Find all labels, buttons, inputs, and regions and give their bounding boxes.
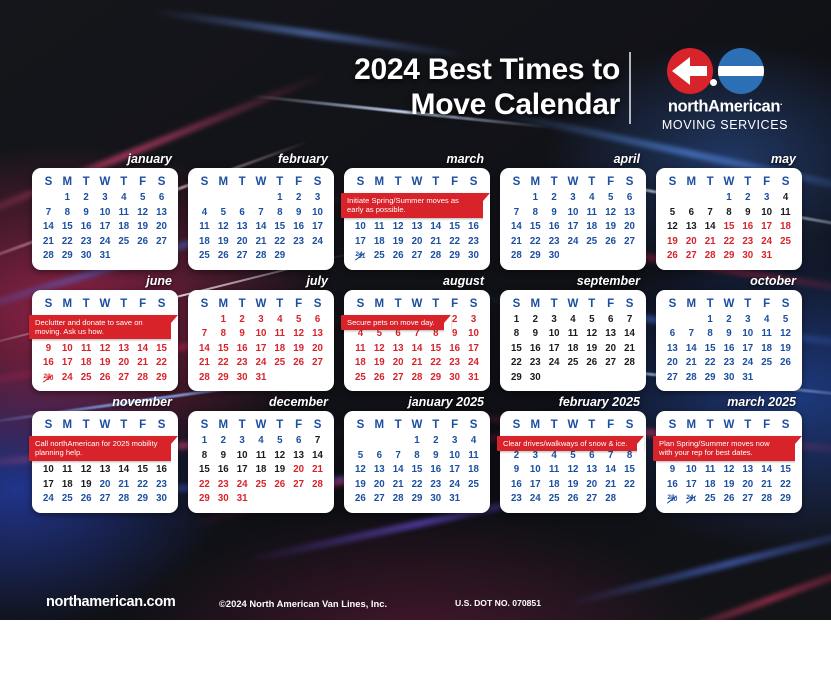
day-cell[interactable]: 9 bbox=[214, 449, 233, 464]
day-cell[interactable]: 23 bbox=[464, 235, 483, 250]
day-cell[interactable]: 8 bbox=[408, 449, 427, 464]
day-cell[interactable]: 28 bbox=[39, 249, 58, 264]
day-cell[interactable]: 8 bbox=[526, 206, 545, 221]
day-cell[interactable]: 17 bbox=[252, 342, 271, 357]
day-cell[interactable]: 25 bbox=[114, 235, 133, 250]
day-cell[interactable]: 18 bbox=[270, 342, 289, 357]
day-cell[interactable]: 3 bbox=[545, 313, 564, 328]
day-cell[interactable]: 17 bbox=[58, 356, 77, 371]
day-cell[interactable]: 4 bbox=[114, 191, 133, 206]
day-cell[interactable]: 21 bbox=[601, 478, 620, 493]
day-cell[interactable]: 12 bbox=[214, 220, 233, 235]
day-cell[interactable]: 13 bbox=[308, 327, 327, 342]
day-cell[interactable]: 3 bbox=[738, 313, 757, 328]
day-cell[interactable]: 10 bbox=[757, 206, 776, 221]
day-cell[interactable]: 21 bbox=[195, 356, 214, 371]
day-cell[interactable]: 5 bbox=[351, 449, 370, 464]
day-cell[interactable]: 20 bbox=[408, 235, 427, 250]
day-cell[interactable]: 23 bbox=[526, 356, 545, 371]
day-cell[interactable]: 5 bbox=[776, 313, 795, 328]
day-cell[interactable]: 5 bbox=[601, 191, 620, 206]
day-cell[interactable]: 29 bbox=[133, 492, 152, 507]
day-cell[interactable]: 30 bbox=[233, 371, 252, 386]
day-cell[interactable]: 29 bbox=[426, 371, 445, 386]
day-cell[interactable]: 10 bbox=[96, 206, 115, 221]
day-cell[interactable]: 27 bbox=[96, 492, 115, 507]
day-cell[interactable]: 11 bbox=[58, 463, 77, 478]
day-cell[interactable]: 23 bbox=[545, 235, 564, 250]
day-cell[interactable]: 27 bbox=[233, 249, 252, 264]
day-cell[interactable]: 27 bbox=[152, 235, 171, 250]
day-cell[interactable]: 8 bbox=[214, 327, 233, 342]
day-cell[interactable]: 29 bbox=[445, 249, 464, 264]
day-cell[interactable]: 10 bbox=[233, 449, 252, 464]
day-cell[interactable]: 1 bbox=[408, 434, 427, 449]
day-cell[interactable]: 15 bbox=[526, 220, 545, 235]
day-cell[interactable]: 13 bbox=[389, 342, 408, 357]
day-cell[interactable]: 29 bbox=[507, 371, 526, 386]
day-cell[interactable]: 20 bbox=[289, 463, 308, 478]
day-cell[interactable]: 17 bbox=[545, 342, 564, 357]
day-cell[interactable]: 13 bbox=[663, 342, 682, 357]
day-cell[interactable]: 20 bbox=[152, 220, 171, 235]
day-cell[interactable]: 25 bbox=[545, 492, 564, 507]
day-cell[interactable]: 14 bbox=[507, 220, 526, 235]
day-cell[interactable]: 6 bbox=[152, 191, 171, 206]
day-cell[interactable]: 12 bbox=[370, 342, 389, 357]
day-cell[interactable]: 30 bbox=[445, 371, 464, 386]
day-cell[interactable]: 7 bbox=[620, 313, 639, 328]
day-cell[interactable]: 13 bbox=[114, 342, 133, 357]
day-cell[interactable]: 21 bbox=[114, 478, 133, 493]
day-cell[interactable]: 27 bbox=[308, 356, 327, 371]
day-cell[interactable]: 3 bbox=[464, 313, 483, 328]
day-cell[interactable]: 19 bbox=[564, 478, 583, 493]
day-cell[interactable]: 19 bbox=[351, 478, 370, 493]
day-cell[interactable]: 24 bbox=[564, 235, 583, 250]
day-cell[interactable]: 19 bbox=[582, 342, 601, 357]
day-cell[interactable]: 14 bbox=[308, 449, 327, 464]
day-cell[interactable]: 11 bbox=[776, 206, 795, 221]
day-cell[interactable]: 28 bbox=[620, 356, 639, 371]
day-cell[interactable]: 14 bbox=[757, 463, 776, 478]
day-cell[interactable]: 29 bbox=[195, 492, 214, 507]
day-cell[interactable]: 25 bbox=[370, 249, 389, 264]
day-cell[interactable]: 16 bbox=[214, 463, 233, 478]
day-cell[interactable]: 28 bbox=[426, 249, 445, 264]
day-cell[interactable]: 30 bbox=[214, 492, 233, 507]
day-cell[interactable]: 19 bbox=[77, 478, 96, 493]
day-cell[interactable]: 16 bbox=[545, 220, 564, 235]
day-cell[interactable]: 10 bbox=[39, 463, 58, 478]
day-cell[interactable]: 30 bbox=[526, 371, 545, 386]
day-cell[interactable]: 24 bbox=[233, 478, 252, 493]
day-cell[interactable]: 18 bbox=[545, 478, 564, 493]
day-cell[interactable]: 25 bbox=[582, 235, 601, 250]
day-cell[interactable]: 4 bbox=[252, 434, 271, 449]
day-cell[interactable]: 21 bbox=[507, 235, 526, 250]
day-cell[interactable]: 10 bbox=[252, 327, 271, 342]
day-cell[interactable]: 26 bbox=[776, 356, 795, 371]
day-cell[interactable]: 10 bbox=[445, 449, 464, 464]
day-cell[interactable]: 20 bbox=[663, 356, 682, 371]
day-cell[interactable]: 8 bbox=[270, 206, 289, 221]
day-cell[interactable]: 20 bbox=[308, 342, 327, 357]
day-cell[interactable]: 18 bbox=[701, 478, 720, 493]
day-cell[interactable]: 21 bbox=[389, 478, 408, 493]
day-cell[interactable]: 11 bbox=[195, 220, 214, 235]
day-cell[interactable]: 12 bbox=[564, 463, 583, 478]
day-cell[interactable]: 18 bbox=[564, 342, 583, 357]
day-cell[interactable]: 5 bbox=[289, 313, 308, 328]
day-cell[interactable]: 7 bbox=[308, 434, 327, 449]
day-cell[interactable]: 27 bbox=[738, 492, 757, 507]
day-cell[interactable]: 9 bbox=[426, 449, 445, 464]
day-cell[interactable]: 23 bbox=[152, 478, 171, 493]
day-cell[interactable]: 26 bbox=[270, 478, 289, 493]
day-cell[interactable]: 12 bbox=[582, 327, 601, 342]
day-cell[interactable]: 25 bbox=[464, 478, 483, 493]
day-cell[interactable]: 11 bbox=[270, 327, 289, 342]
day-cell[interactable]: 2 bbox=[545, 191, 564, 206]
day-cell[interactable]: 26 bbox=[720, 492, 739, 507]
day-cell[interactable]: 10 bbox=[351, 220, 370, 235]
day-cell[interactable]: 13 bbox=[601, 327, 620, 342]
day-cell[interactable]: 27 bbox=[682, 249, 701, 264]
day-cell[interactable]: 18 bbox=[77, 356, 96, 371]
day-cell[interactable]: 2 bbox=[426, 434, 445, 449]
day-cell[interactable]: 6 bbox=[308, 313, 327, 328]
day-cell[interactable]: 19 bbox=[214, 235, 233, 250]
day-cell[interactable]: 16 bbox=[289, 220, 308, 235]
day-cell[interactable]: 15 bbox=[195, 463, 214, 478]
day-cell[interactable]: 11 bbox=[351, 342, 370, 357]
day-cell[interactable]: 3 bbox=[233, 434, 252, 449]
day-cell[interactable]: 17 bbox=[526, 478, 545, 493]
day-cell[interactable]: 11 bbox=[545, 463, 564, 478]
day-cell[interactable]: 2 bbox=[526, 313, 545, 328]
day-cell[interactable]: 21 bbox=[620, 342, 639, 357]
day-cell[interactable]: 9 bbox=[738, 206, 757, 221]
day-cell[interactable]: 11 bbox=[77, 342, 96, 357]
day-cell[interactable]: 25 bbox=[252, 478, 271, 493]
day-cell[interactable]: 26 bbox=[133, 235, 152, 250]
day-cell[interactable]: 9 bbox=[507, 463, 526, 478]
day-cell[interactable]: 29 bbox=[270, 249, 289, 264]
day-cell[interactable]: 10 bbox=[308, 206, 327, 221]
day-cell[interactable]: 19 bbox=[270, 463, 289, 478]
day-cell[interactable]: 23 bbox=[445, 356, 464, 371]
day-cell[interactable]: 25 bbox=[270, 356, 289, 371]
day-cell[interactable]: 31 bbox=[738, 371, 757, 386]
day-cell[interactable]: 18 bbox=[351, 356, 370, 371]
day-cell[interactable]: 3 bbox=[564, 191, 583, 206]
day-cell[interactable]: 15 bbox=[408, 463, 427, 478]
day-cell[interactable]: 16 bbox=[233, 342, 252, 357]
day-cell[interactable]: 30 bbox=[720, 371, 739, 386]
day-cell[interactable]: 9 bbox=[77, 206, 96, 221]
day-cell[interactable]: 27 bbox=[370, 492, 389, 507]
day-cell[interactable]: 27 bbox=[582, 492, 601, 507]
day-cell[interactable]: 7 bbox=[701, 206, 720, 221]
day-cell[interactable]: 30 bbox=[77, 249, 96, 264]
day-cell[interactable]: 13 bbox=[96, 463, 115, 478]
day-cell[interactable]: 23 bbox=[289, 235, 308, 250]
day-cell[interactable]: 17 bbox=[564, 220, 583, 235]
website-url[interactable]: northamerican.com bbox=[46, 594, 175, 610]
day-cell[interactable]: 28 bbox=[114, 492, 133, 507]
day-cell[interactable]: 11 bbox=[464, 449, 483, 464]
day-cell[interactable]: 26 bbox=[389, 249, 408, 264]
day-cell[interactable]: 28 bbox=[757, 492, 776, 507]
day-cell[interactable]: 29 bbox=[408, 492, 427, 507]
day-cell[interactable]: 2330 bbox=[39, 371, 58, 386]
day-cell[interactable]: 29 bbox=[152, 371, 171, 386]
day-cell[interactable]: 16 bbox=[526, 342, 545, 357]
day-cell[interactable]: 9 bbox=[663, 463, 682, 478]
day-cell[interactable]: 22 bbox=[58, 235, 77, 250]
day-cell[interactable]: 18 bbox=[757, 342, 776, 357]
day-cell[interactable]: 7 bbox=[507, 206, 526, 221]
day-cell[interactable]: 27 bbox=[408, 249, 427, 264]
day-cell[interactable]: 15 bbox=[214, 342, 233, 357]
day-cell[interactable]: 10 bbox=[464, 327, 483, 342]
day-cell[interactable]: 14 bbox=[408, 342, 427, 357]
day-cell[interactable]: 26 bbox=[351, 492, 370, 507]
day-cell[interactable]: 22 bbox=[408, 478, 427, 493]
day-cell[interactable]: 6 bbox=[620, 191, 639, 206]
day-cell[interactable]: 2330 bbox=[663, 492, 682, 507]
day-cell[interactable]: 12 bbox=[289, 327, 308, 342]
day-cell[interactable]: 4 bbox=[195, 206, 214, 221]
day-cell[interactable]: 22 bbox=[270, 235, 289, 250]
day-cell[interactable]: 22 bbox=[701, 356, 720, 371]
day-cell[interactable]: 21 bbox=[252, 235, 271, 250]
day-cell[interactable]: 14 bbox=[389, 463, 408, 478]
day-cell[interactable]: 8 bbox=[58, 206, 77, 221]
day-cell[interactable]: 24 bbox=[464, 356, 483, 371]
day-cell[interactable]: 4 bbox=[464, 434, 483, 449]
day-cell[interactable]: 8 bbox=[195, 449, 214, 464]
day-cell[interactable]: 27 bbox=[663, 371, 682, 386]
day-cell[interactable]: 16 bbox=[426, 463, 445, 478]
day-cell[interactable]: 26 bbox=[370, 371, 389, 386]
day-cell[interactable]: 16 bbox=[152, 463, 171, 478]
day-cell[interactable]: 31 bbox=[757, 249, 776, 264]
day-cell[interactable]: 22 bbox=[445, 235, 464, 250]
day-cell[interactable]: 30 bbox=[426, 492, 445, 507]
day-cell[interactable]: 4 bbox=[776, 191, 795, 206]
day-cell[interactable]: 20 bbox=[582, 478, 601, 493]
day-cell[interactable]: 5 bbox=[663, 206, 682, 221]
day-cell[interactable]: 19 bbox=[289, 342, 308, 357]
day-cell[interactable]: 28 bbox=[408, 371, 427, 386]
day-cell[interactable]: 29 bbox=[720, 249, 739, 264]
day-cell[interactable]: 6 bbox=[233, 206, 252, 221]
day-cell[interactable]: 1 bbox=[526, 191, 545, 206]
day-cell[interactable]: 30 bbox=[152, 492, 171, 507]
day-cell[interactable]: 10 bbox=[58, 342, 77, 357]
day-cell[interactable]: 11 bbox=[757, 327, 776, 342]
day-cell[interactable]: 1 bbox=[195, 434, 214, 449]
day-cell[interactable]: 3 bbox=[96, 191, 115, 206]
day-cell[interactable]: 14 bbox=[114, 463, 133, 478]
day-cell[interactable]: 18 bbox=[776, 220, 795, 235]
day-cell[interactable]: 19 bbox=[96, 356, 115, 371]
day-cell[interactable]: 2 bbox=[720, 313, 739, 328]
day-cell[interactable]: 15 bbox=[152, 342, 171, 357]
day-cell[interactable]: 28 bbox=[507, 249, 526, 264]
day-cell[interactable]: 14 bbox=[195, 342, 214, 357]
day-cell[interactable]: 25 bbox=[757, 356, 776, 371]
day-cell[interactable]: 28 bbox=[308, 478, 327, 493]
day-cell[interactable]: 19 bbox=[389, 235, 408, 250]
day-cell[interactable]: 10 bbox=[526, 463, 545, 478]
day-cell[interactable]: 25 bbox=[58, 492, 77, 507]
day-cell[interactable]: 13 bbox=[582, 463, 601, 478]
day-cell[interactable]: 8 bbox=[701, 327, 720, 342]
day-cell[interactable]: 26 bbox=[601, 235, 620, 250]
day-cell[interactable]: 2 bbox=[289, 191, 308, 206]
day-cell[interactable]: 1 bbox=[720, 191, 739, 206]
day-cell[interactable]: 9 bbox=[720, 327, 739, 342]
day-cell[interactable]: 18 bbox=[252, 463, 271, 478]
day-cell[interactable]: 24 bbox=[96, 235, 115, 250]
day-cell[interactable]: 24 bbox=[39, 492, 58, 507]
day-cell[interactable]: 20 bbox=[233, 235, 252, 250]
day-cell[interactable]: 4 bbox=[757, 313, 776, 328]
day-cell[interactable]: 20 bbox=[601, 342, 620, 357]
day-cell[interactable]: 3 bbox=[252, 313, 271, 328]
day-cell[interactable]: 16 bbox=[39, 356, 58, 371]
day-cell[interactable]: 9 bbox=[233, 327, 252, 342]
day-cell[interactable]: 25 bbox=[351, 371, 370, 386]
day-cell[interactable]: 13 bbox=[152, 206, 171, 221]
day-cell[interactable]: 15 bbox=[445, 220, 464, 235]
day-cell[interactable]: 20 bbox=[620, 220, 639, 235]
day-cell[interactable]: 30 bbox=[738, 249, 757, 264]
day-cell[interactable]: 22 bbox=[720, 235, 739, 250]
day-cell[interactable]: 18 bbox=[195, 235, 214, 250]
day-cell[interactable]: 15 bbox=[270, 220, 289, 235]
day-cell[interactable]: 5 bbox=[214, 206, 233, 221]
day-cell[interactable]: 10 bbox=[682, 463, 701, 478]
day-cell[interactable]: 12 bbox=[133, 206, 152, 221]
day-cell[interactable]: 16 bbox=[663, 478, 682, 493]
day-cell[interactable]: 9 bbox=[545, 206, 564, 221]
day-cell[interactable]: 22 bbox=[214, 356, 233, 371]
day-cell[interactable]: 20 bbox=[682, 235, 701, 250]
day-cell[interactable]: 9 bbox=[289, 206, 308, 221]
day-cell[interactable]: 12 bbox=[776, 327, 795, 342]
day-cell[interactable]: 7 bbox=[682, 327, 701, 342]
day-cell[interactable]: 14 bbox=[39, 220, 58, 235]
day-cell[interactable]: 25 bbox=[77, 371, 96, 386]
day-cell[interactable]: 15 bbox=[720, 220, 739, 235]
day-cell[interactable]: 14 bbox=[133, 342, 152, 357]
day-cell[interactable]: 14 bbox=[426, 220, 445, 235]
day-cell[interactable]: 23 bbox=[738, 235, 757, 250]
day-cell[interactable]: 29 bbox=[214, 371, 233, 386]
day-cell[interactable]: 31 bbox=[96, 249, 115, 264]
day-cell[interactable]: 22 bbox=[195, 478, 214, 493]
day-cell[interactable]: 17 bbox=[39, 478, 58, 493]
day-cell[interactable]: 22 bbox=[507, 356, 526, 371]
day-cell[interactable]: 21 bbox=[426, 235, 445, 250]
day-cell[interactable]: 25 bbox=[564, 356, 583, 371]
day-cell[interactable]: 28 bbox=[682, 371, 701, 386]
day-cell[interactable]: 10 bbox=[564, 206, 583, 221]
day-cell[interactable]: 25 bbox=[195, 249, 214, 264]
day-cell[interactable]: 24 bbox=[58, 371, 77, 386]
day-cell[interactable]: 9 bbox=[39, 342, 58, 357]
day-cell[interactable]: 4 bbox=[564, 313, 583, 328]
day-cell[interactable]: 12 bbox=[351, 463, 370, 478]
day-cell[interactable]: 11 bbox=[582, 206, 601, 221]
day-cell[interactable]: 17 bbox=[445, 463, 464, 478]
day-cell[interactable]: 26 bbox=[564, 492, 583, 507]
day-cell[interactable]: 18 bbox=[370, 235, 389, 250]
day-cell[interactable]: 30 bbox=[545, 249, 564, 264]
day-cell[interactable]: 17 bbox=[464, 342, 483, 357]
day-cell[interactable]: 18 bbox=[464, 463, 483, 478]
day-cell[interactable]: 17 bbox=[757, 220, 776, 235]
day-cell[interactable]: 26 bbox=[96, 371, 115, 386]
day-cell[interactable]: 21 bbox=[757, 478, 776, 493]
day-cell[interactable]: 13 bbox=[682, 220, 701, 235]
day-cell[interactable]: 27 bbox=[620, 235, 639, 250]
day-cell[interactable]: 19 bbox=[133, 220, 152, 235]
day-cell[interactable]: 2 bbox=[233, 313, 252, 328]
day-cell[interactable]: 20 bbox=[370, 478, 389, 493]
day-cell[interactable]: 1 bbox=[214, 313, 233, 328]
day-cell[interactable]: 29 bbox=[701, 371, 720, 386]
day-cell[interactable]: 3 bbox=[757, 191, 776, 206]
day-cell[interactable]: 24 bbox=[545, 356, 564, 371]
day-cell[interactable]: 22 bbox=[620, 478, 639, 493]
day-cell[interactable]: 17 bbox=[738, 342, 757, 357]
day-cell[interactable]: 22 bbox=[133, 478, 152, 493]
day-cell[interactable]: 15 bbox=[426, 342, 445, 357]
day-cell[interactable]: 16 bbox=[77, 220, 96, 235]
day-cell[interactable]: 26 bbox=[214, 249, 233, 264]
day-cell[interactable]: 15 bbox=[507, 342, 526, 357]
day-cell[interactable]: 27 bbox=[114, 371, 133, 386]
day-cell[interactable]: 28 bbox=[133, 371, 152, 386]
day-cell[interactable]: 22 bbox=[426, 356, 445, 371]
day-cell[interactable]: 10 bbox=[545, 327, 564, 342]
day-cell[interactable]: 13 bbox=[738, 463, 757, 478]
day-cell[interactable]: 11 bbox=[701, 463, 720, 478]
day-cell[interactable]: 23 bbox=[214, 478, 233, 493]
day-cell[interactable]: 21 bbox=[408, 356, 427, 371]
day-cell[interactable]: 31 bbox=[233, 492, 252, 507]
day-cell[interactable]: 24 bbox=[308, 235, 327, 250]
day-cell[interactable]: 14 bbox=[620, 327, 639, 342]
day-cell[interactable]: 27 bbox=[289, 478, 308, 493]
day-cell[interactable]: 12 bbox=[663, 220, 682, 235]
day-cell[interactable]: 20 bbox=[96, 478, 115, 493]
day-cell[interactable]: 23 bbox=[720, 356, 739, 371]
day-cell[interactable]: 16 bbox=[738, 220, 757, 235]
day-cell[interactable]: 18 bbox=[582, 220, 601, 235]
day-cell[interactable]: 7 bbox=[389, 449, 408, 464]
day-cell[interactable]: 25 bbox=[701, 492, 720, 507]
day-cell[interactable]: 12 bbox=[601, 206, 620, 221]
day-cell[interactable]: 20 bbox=[114, 356, 133, 371]
day-cell[interactable]: 7 bbox=[195, 327, 214, 342]
day-cell[interactable]: 17 bbox=[682, 478, 701, 493]
